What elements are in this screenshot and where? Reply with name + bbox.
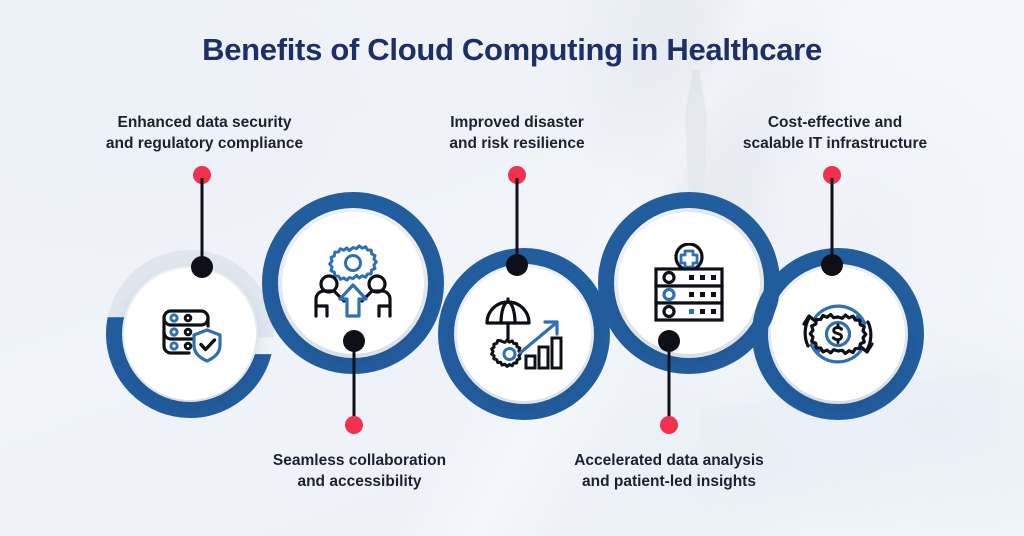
benefit-icon-disc[interactable]	[124, 268, 256, 400]
infographic-canvas: Benefits of Cloud Computing in Healthcar…	[0, 0, 1024, 536]
database-shield-check-icon	[153, 297, 227, 371]
connector-disaster-resilience	[505, 166, 529, 282]
benefit-icon-disc[interactable]	[771, 267, 905, 401]
benefit-icon-disc[interactable]	[457, 267, 591, 401]
connector-collaboration	[342, 330, 366, 448]
connector-line	[516, 178, 519, 262]
umbrella-gear-growth-chart-icon	[484, 297, 564, 371]
benefit-label-collaboration: Seamless collaboration and accessibility	[232, 450, 487, 493]
server-medical-plus-icon	[650, 243, 728, 323]
benefit-label-disaster-resilience: Improved disaster and risk resilience	[412, 112, 622, 155]
page-title: Benefits of Cloud Computing in Healthcar…	[0, 32, 1024, 68]
connector-cost-effective	[820, 166, 844, 282]
connector-line	[201, 178, 204, 264]
connector-line	[668, 342, 671, 424]
benefit-icon-disc[interactable]	[618, 212, 760, 354]
connector-data-analysis	[657, 330, 681, 448]
connector-black-dot	[821, 254, 843, 276]
connector-red-dot	[345, 416, 363, 434]
connector-black-dot	[191, 256, 213, 278]
connector-line	[831, 178, 834, 262]
benefit-label-cost-effective: Cost-effective and scalable IT infrastru…	[722, 112, 948, 155]
connector-black-dot	[506, 254, 528, 276]
benefit-label-data-analysis: Accelerated data analysis and patient-le…	[538, 450, 800, 493]
gear-center	[504, 349, 515, 360]
benefit-label-data-security: Enhanced data security and regulatory co…	[72, 112, 337, 155]
connector-red-dot	[660, 416, 678, 434]
connector-line	[353, 342, 356, 424]
gear-dollar-cycle-icon	[800, 296, 876, 372]
connector-data-security	[190, 166, 214, 282]
